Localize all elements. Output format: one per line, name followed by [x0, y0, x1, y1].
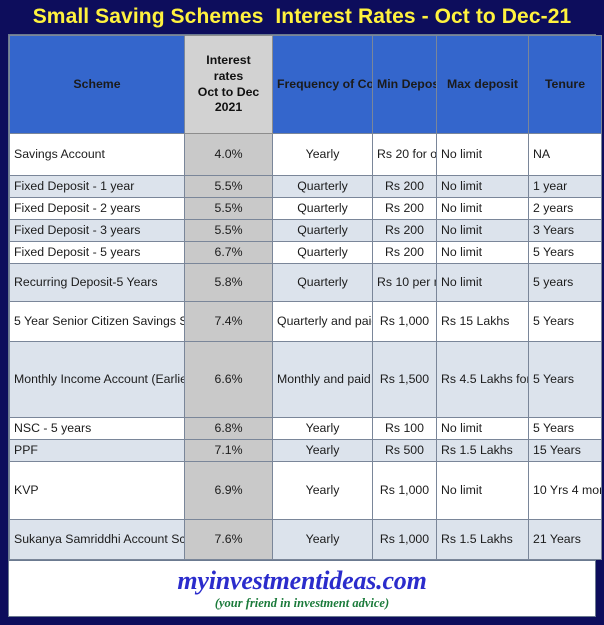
- row-max-deposit: No limit: [437, 418, 529, 440]
- row-min-deposit: Rs 200: [373, 220, 437, 242]
- row-tenure: 3 Years: [529, 220, 602, 242]
- row-tenure: NA: [529, 134, 602, 176]
- column-header-frequency: Frequency of Compounding: [273, 36, 373, 134]
- row-scheme: Fixed Deposit - 5 years: [10, 242, 185, 264]
- row-max-deposit: No limit: [437, 264, 529, 302]
- row-interest-rate: 5.5%: [185, 198, 273, 220]
- row-max-deposit: No limit: [437, 198, 529, 220]
- row-frequency: Yearly: [273, 440, 373, 462]
- table-row: KVP6.9%YearlyRs 1,000No limit10 Yrs 4 mo…: [10, 462, 602, 520]
- row-min-deposit: Rs 1,000: [373, 302, 437, 342]
- row-interest-rate: 6.9%: [185, 462, 273, 520]
- row-frequency: Quarterly: [273, 220, 373, 242]
- row-max-deposit: No limit: [437, 220, 529, 242]
- row-scheme: Sukanya Samriddhi Account Scheme: [10, 520, 185, 560]
- row-min-deposit: Rs 1,000: [373, 520, 437, 560]
- row-scheme: NSC - 5 years: [10, 418, 185, 440]
- row-min-deposit: Rs 20 for opening: [373, 134, 437, 176]
- row-scheme: Recurring Deposit-5 Years: [10, 264, 185, 302]
- title-bar: Small Saving Schemes Interest Rates - Oc…: [0, 0, 604, 34]
- table-row: Fixed Deposit - 3 years5.5%QuarterlyRs 2…: [10, 220, 602, 242]
- row-interest-rate: 6.7%: [185, 242, 273, 264]
- row-max-deposit: No limit: [437, 176, 529, 198]
- row-min-deposit: Rs 100: [373, 418, 437, 440]
- row-interest-rate: 6.8%: [185, 418, 273, 440]
- row-interest-rate: 5.8%: [185, 264, 273, 302]
- row-scheme: 5 Year Senior Citizen Savings Scheme: [10, 302, 185, 342]
- column-header-scheme: Scheme: [10, 36, 185, 134]
- table-row: Fixed Deposit - 1 year5.5%QuarterlyRs 20…: [10, 176, 602, 198]
- row-max-deposit: Rs 15 Lakhs: [437, 302, 529, 342]
- row-min-deposit: Rs 200: [373, 176, 437, 198]
- row-frequency: Quarterly and paid: [273, 302, 373, 342]
- row-scheme: Fixed Deposit - 3 years: [10, 220, 185, 242]
- row-max-deposit: Rs 4.5 Lakhs for single Rs 9 Lakhs for j…: [437, 342, 529, 418]
- table-row: Fixed Deposit - 2 years5.5%QuarterlyRs 2…: [10, 198, 602, 220]
- row-frequency: Quarterly: [273, 198, 373, 220]
- row-frequency: Yearly: [273, 462, 373, 520]
- row-tenure: 5 Years: [529, 242, 602, 264]
- row-min-deposit: Rs 10 per month: [373, 264, 437, 302]
- row-min-deposit: Rs 200: [373, 198, 437, 220]
- table-row: 5 Year Senior Citizen Savings Scheme7.4%…: [10, 302, 602, 342]
- table-row: NSC - 5 years6.8%YearlyRs 100No limit5 Y…: [10, 418, 602, 440]
- row-frequency: Monthly and paid: [273, 342, 373, 418]
- row-tenure: 10 Yrs 4 months (124 months): [529, 462, 602, 520]
- row-max-deposit: Rs 1.5 Lakhs: [437, 520, 529, 560]
- row-interest-rate: 7.1%: [185, 440, 273, 462]
- row-max-deposit: Rs 1.5 Lakhs: [437, 440, 529, 462]
- table-row: PPF7.1%YearlyRs 500Rs 1.5 Lakhs15 Years: [10, 440, 602, 462]
- row-interest-rate: 6.6%: [185, 342, 273, 418]
- row-tenure: 5 Years: [529, 342, 602, 418]
- interest-head-line-4: 2021: [189, 100, 268, 116]
- small-saving-schemes-rates-table: Scheme Interest rates Oct to Dec 2021 Fr…: [9, 35, 602, 560]
- table-header: Scheme Interest rates Oct to Dec 2021 Fr…: [10, 36, 602, 134]
- row-interest-rate: 4.0%: [185, 134, 273, 176]
- header-row: Scheme Interest rates Oct to Dec 2021 Fr…: [10, 36, 602, 134]
- column-header-interest-rates: Interest rates Oct to Dec 2021: [185, 36, 273, 134]
- row-min-deposit: Rs 200: [373, 242, 437, 264]
- row-scheme: Monthly Income Account (Earlier MIS): [10, 342, 185, 418]
- brand-footer: myinvestmentideas.com (your friend in in…: [8, 561, 596, 617]
- row-max-deposit: No limit: [437, 242, 529, 264]
- row-interest-rate: 7.4%: [185, 302, 273, 342]
- row-tenure: 5 years: [529, 264, 602, 302]
- page-title: Small Saving Schemes Interest Rates - Oc…: [33, 5, 572, 29]
- table-row: Savings Account4.0%YearlyRs 20 for openi…: [10, 134, 602, 176]
- row-min-deposit: Rs 1,000: [373, 462, 437, 520]
- row-interest-rate: 5.5%: [185, 176, 273, 198]
- row-scheme: Fixed Deposit - 2 years: [10, 198, 185, 220]
- row-frequency: Quarterly: [273, 264, 373, 302]
- row-interest-rate: 7.6%: [185, 520, 273, 560]
- brand-tagline: (your friend in investment advice): [9, 597, 595, 611]
- row-tenure: 5 Years: [529, 418, 602, 440]
- row-scheme: PPF: [10, 440, 185, 462]
- row-min-deposit: Rs 500: [373, 440, 437, 462]
- table-row: Fixed Deposit - 5 years6.7%QuarterlyRs 2…: [10, 242, 602, 264]
- row-frequency: Quarterly: [273, 242, 373, 264]
- table-body: Savings Account4.0%YearlyRs 20 for openi…: [10, 134, 602, 560]
- row-frequency: Quarterly: [273, 176, 373, 198]
- column-header-tenure: Tenure: [529, 36, 602, 134]
- interest-head-line-3: Oct to Dec: [189, 85, 268, 101]
- row-scheme: Fixed Deposit - 1 year: [10, 176, 185, 198]
- column-header-max-deposit: Max deposit: [437, 36, 529, 134]
- row-scheme: KVP: [10, 462, 185, 520]
- row-tenure: 21 Years: [529, 520, 602, 560]
- row-frequency: Yearly: [273, 520, 373, 560]
- table-row: Recurring Deposit-5 Years5.8%QuarterlyRs…: [10, 264, 602, 302]
- row-scheme: Savings Account: [10, 134, 185, 176]
- brand-name: myinvestmentideas.com: [9, 567, 595, 594]
- table-row: Sukanya Samriddhi Account Scheme7.6%Year…: [10, 520, 602, 560]
- row-frequency: Yearly: [273, 134, 373, 176]
- rates-table-container: Scheme Interest rates Oct to Dec 2021 Fr…: [8, 34, 596, 561]
- row-frequency: Yearly: [273, 418, 373, 440]
- row-max-deposit: No limit: [437, 462, 529, 520]
- infographic-page: Small Saving Schemes Interest Rates - Oc…: [0, 0, 604, 625]
- column-header-min-deposit: Min Deposit: [373, 36, 437, 134]
- interest-head-line-2: rates: [189, 69, 268, 85]
- row-interest-rate: 5.5%: [185, 220, 273, 242]
- row-tenure: 15 Years: [529, 440, 602, 462]
- row-tenure: 5 Years: [529, 302, 602, 342]
- row-tenure: 1 year: [529, 176, 602, 198]
- row-min-deposit: Rs 1,500: [373, 342, 437, 418]
- interest-head-line-1: Interest: [189, 53, 268, 69]
- table-row: Monthly Income Account (Earlier MIS)6.6%…: [10, 342, 602, 418]
- row-max-deposit: No limit: [437, 134, 529, 176]
- row-tenure: 2 years: [529, 198, 602, 220]
